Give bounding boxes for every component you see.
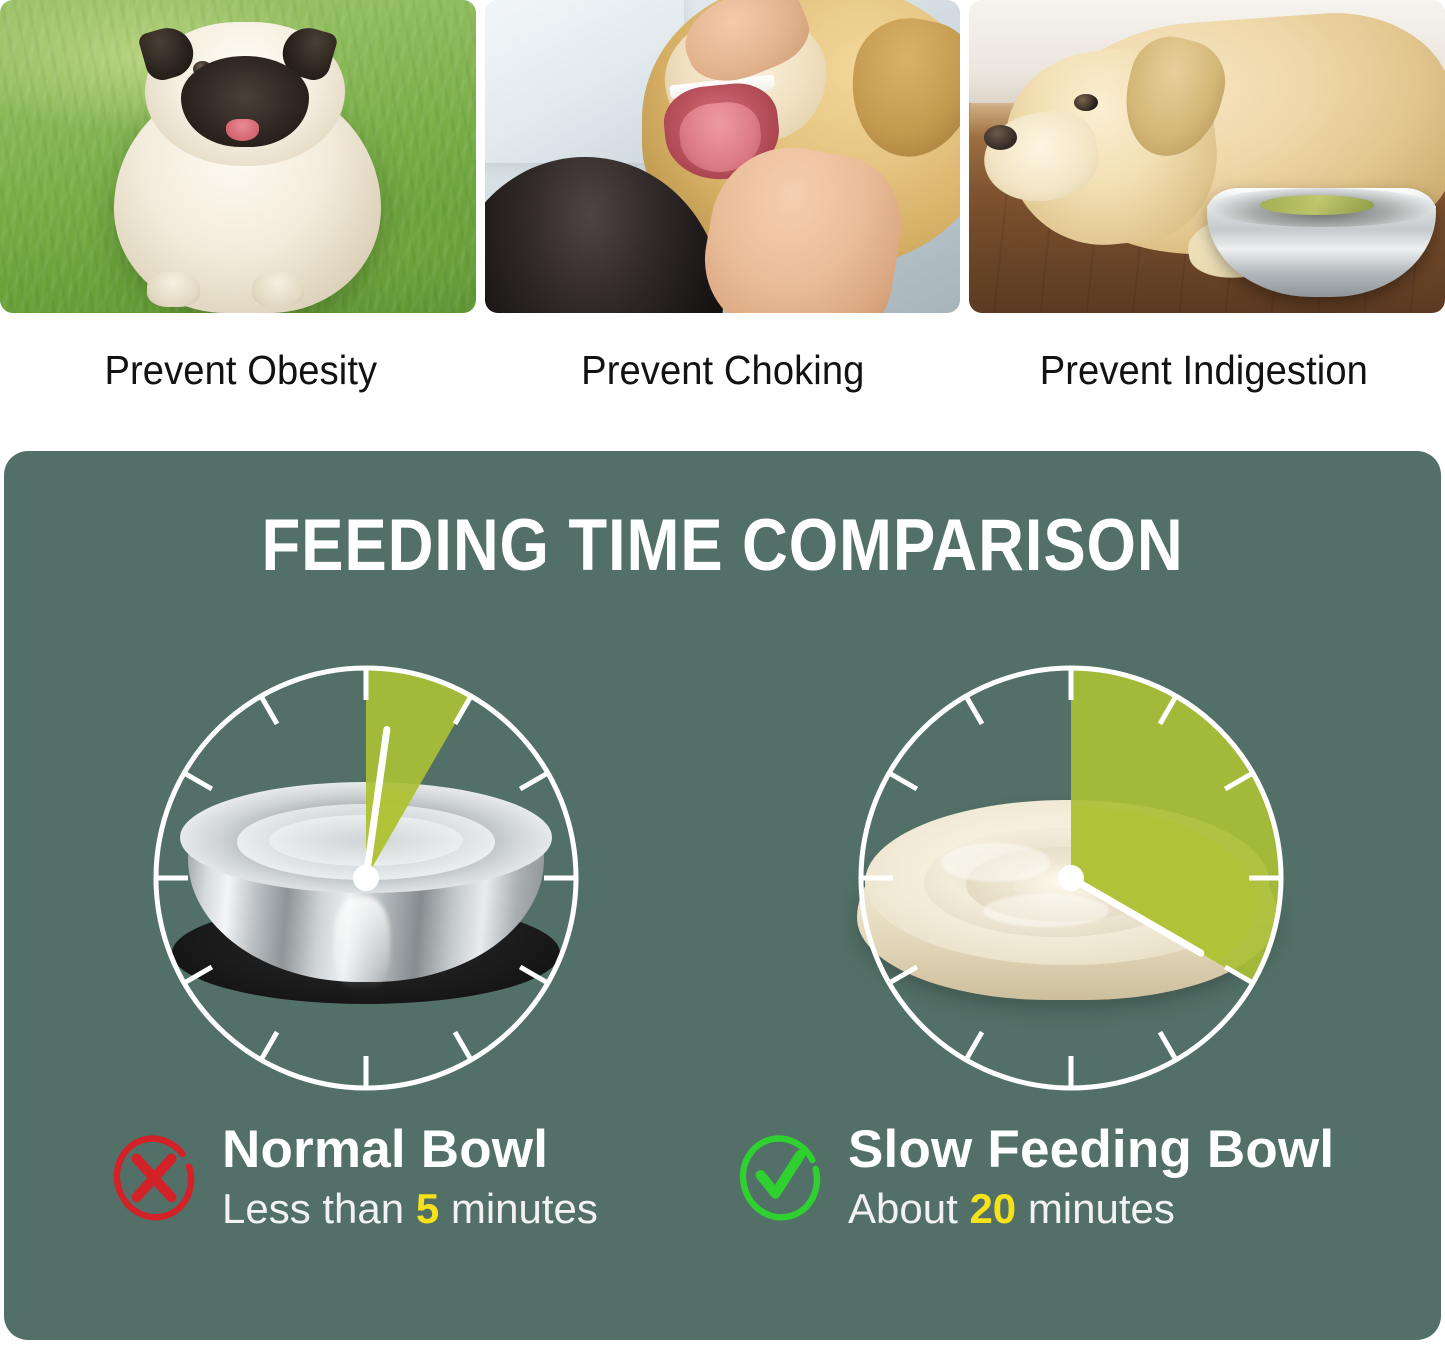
caption-prevent-indigestion: Prevent Indigestion <box>980 330 1428 410</box>
label-title-slow-feeding-bowl: Slow Feeding Bowl <box>848 1123 1334 1176</box>
panel-title: FEEDING TIME COMPARISON <box>97 504 1347 587</box>
clock-comparison-row <box>4 656 1441 1096</box>
label-sub-slow-feeding-bowl: About 20 minutes <box>848 1185 1334 1232</box>
label-sub-prefix-right: About <box>848 1185 969 1232</box>
label-sub-prefix-left: Less than <box>222 1185 416 1232</box>
clock-normal-bowl <box>146 656 586 1096</box>
feeding-time-comparison-panel: FEEDING TIME COMPARISON <box>4 451 1441 1340</box>
comparison-label-row: Normal Bowl Less than 5 minutes Slow Fee… <box>4 1123 1441 1283</box>
red-x-circle-icon <box>108 1131 200 1223</box>
label-group-slow-feeding-bowl: Slow Feeding Bowl About 20 minutes <box>734 1123 1334 1232</box>
label-group-normal-bowl: Normal Bowl Less than 5 minutes <box>108 1123 598 1232</box>
benefit-photo-strip <box>0 0 1445 313</box>
label-text-normal-bowl: Normal Bowl Less than 5 minutes <box>222 1123 598 1232</box>
label-title-normal-bowl: Normal Bowl <box>222 1123 598 1176</box>
caption-prevent-obesity: Prevent Obesity <box>17 330 465 410</box>
benefit-caption-row: Prevent Obesity Prevent Choking Prevent … <box>0 330 1445 410</box>
clock-face-left <box>146 656 586 1096</box>
clock-face-right <box>851 656 1291 1096</box>
label-text-slow-feeding-bowl: Slow Feeding Bowl About 20 minutes <box>848 1123 1334 1232</box>
kibble-in-bowl <box>1260 195 1374 215</box>
labrador-eye <box>1074 94 1098 111</box>
clock-center-dot-left <box>353 865 379 891</box>
photo-card-prevent-indigestion <box>969 0 1445 313</box>
pug-paw-left <box>147 272 199 306</box>
photo-card-prevent-obesity <box>0 0 476 313</box>
label-sub-suffix-left: minutes <box>439 1185 598 1232</box>
clock-center-dot-right <box>1058 865 1084 891</box>
photo-card-prevent-choking <box>485 0 961 313</box>
label-sub-suffix-right: minutes <box>1016 1185 1175 1232</box>
green-check-circle-icon <box>734 1131 826 1223</box>
labrador-nose <box>984 125 1017 150</box>
label-sub-normal-bowl: Less than 5 minutes <box>222 1185 598 1232</box>
label-sub-value-right: 20 <box>969 1185 1016 1232</box>
caption-prevent-choking: Prevent Choking <box>499 330 947 410</box>
pug-tongue <box>226 119 259 141</box>
clock-slow-feeding-bowl <box>851 656 1291 1096</box>
pug-paw-right <box>252 272 304 306</box>
label-sub-value-left: 5 <box>416 1185 439 1232</box>
